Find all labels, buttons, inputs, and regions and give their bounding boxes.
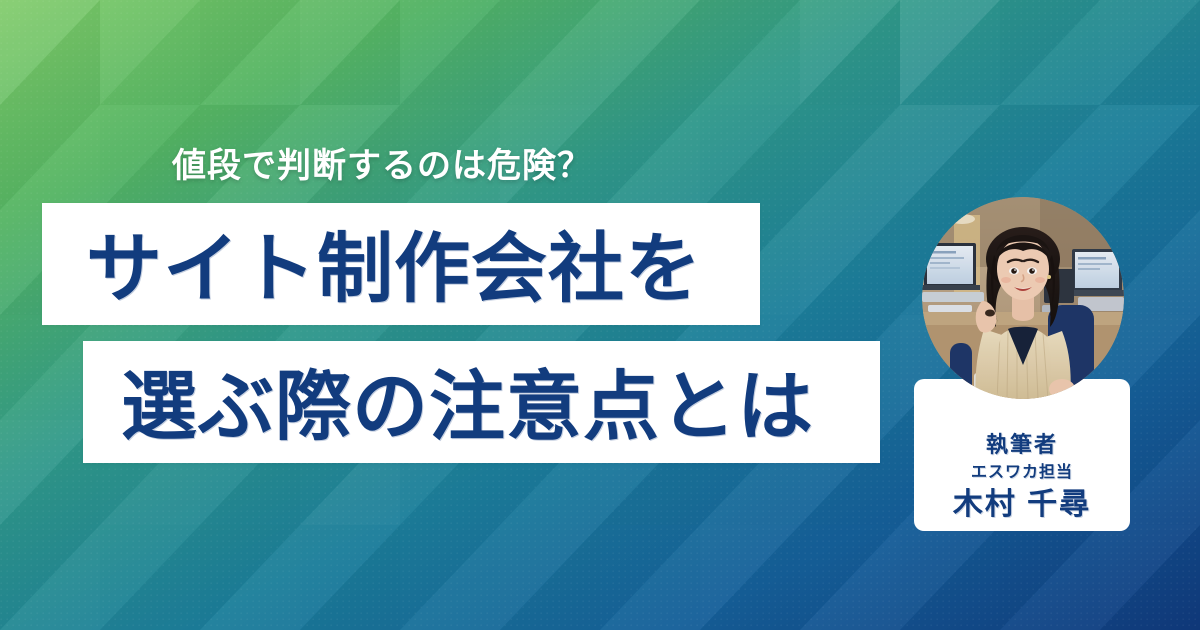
title-bar-line-1: サイト制作会社を — [42, 203, 760, 325]
title-bar-line-2: 選ぶ際の注意点とは — [83, 341, 880, 463]
author-card: 執筆者 エスワカ担当 木村 千尋 — [914, 379, 1130, 531]
author-name-label: 木村 千尋 — [914, 479, 1130, 523]
author-portrait-photo-icon — [922, 197, 1124, 399]
title-line-1-text: サイト制作会社を — [86, 207, 702, 317]
author-heading-label: 執筆者 — [914, 427, 1130, 459]
title-line-2-text: 選ぶ際の注意点とは — [121, 345, 814, 455]
og-image-card: 値段で判断するのは危険？ サイト制作会社を 選ぶ際の注意点とは 執筆者 エスワカ… — [0, 0, 1200, 630]
subtitle-text: 値段で判断するのは危険？ — [172, 146, 592, 187]
